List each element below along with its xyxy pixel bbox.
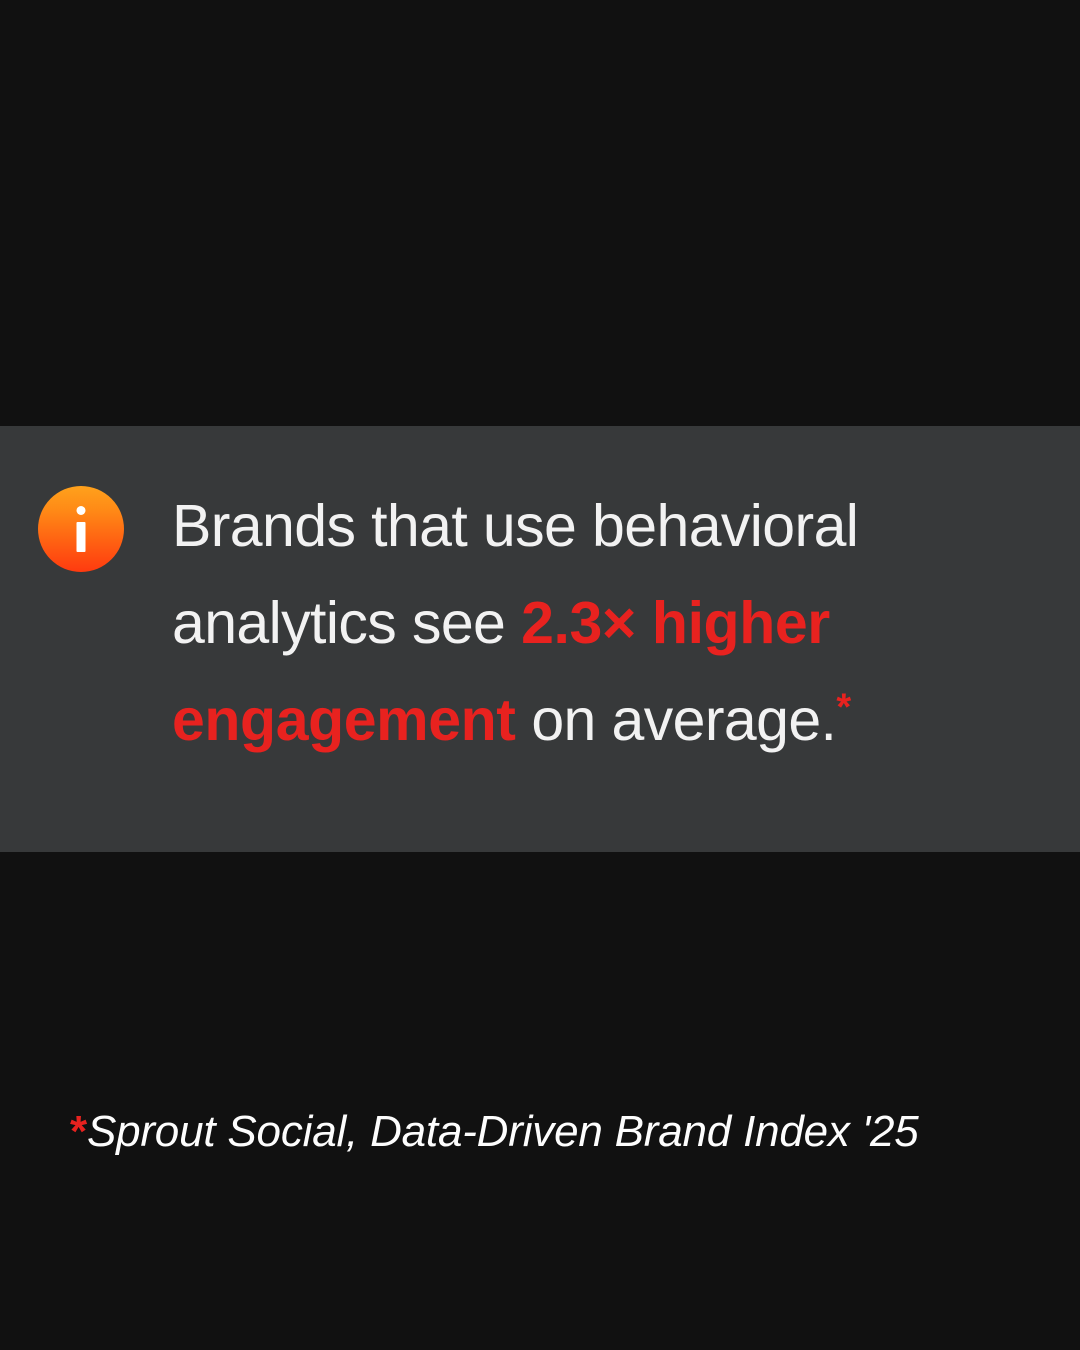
- info-icon: [38, 486, 124, 572]
- headline: Brands that use behavioral analytics see…: [172, 478, 1032, 769]
- headline-line-1: Brands that use behavioral: [172, 478, 1032, 575]
- headline-line-2-accent: 2.3× higher: [521, 590, 830, 656]
- footnote-text: Sprout Social, Data-Driven Brand Index '…: [87, 1107, 919, 1156]
- headline-line-3-accent: engagement: [172, 687, 516, 753]
- headline-line-3: engagement on average.*: [172, 672, 1032, 769]
- headline-line-2: analytics see 2.3× higher: [172, 575, 1032, 672]
- headline-line-1-text: Brands that use behavioral: [172, 493, 858, 559]
- footnote-asterisk-icon: *: [70, 1107, 87, 1156]
- footnote-marker-superscript: *: [836, 686, 851, 728]
- headline-line-3-plain: on average.: [516, 687, 837, 753]
- slide-canvas: Brands that use behavioral analytics see…: [0, 0, 1080, 1350]
- info-icon-stem: [77, 522, 86, 552]
- footnote: *Sprout Social, Data-Driven Brand Index …: [70, 1104, 919, 1160]
- info-icon-container: [38, 486, 124, 572]
- headline-line-2-plain: analytics see: [172, 590, 521, 656]
- info-icon-dot: [77, 506, 86, 515]
